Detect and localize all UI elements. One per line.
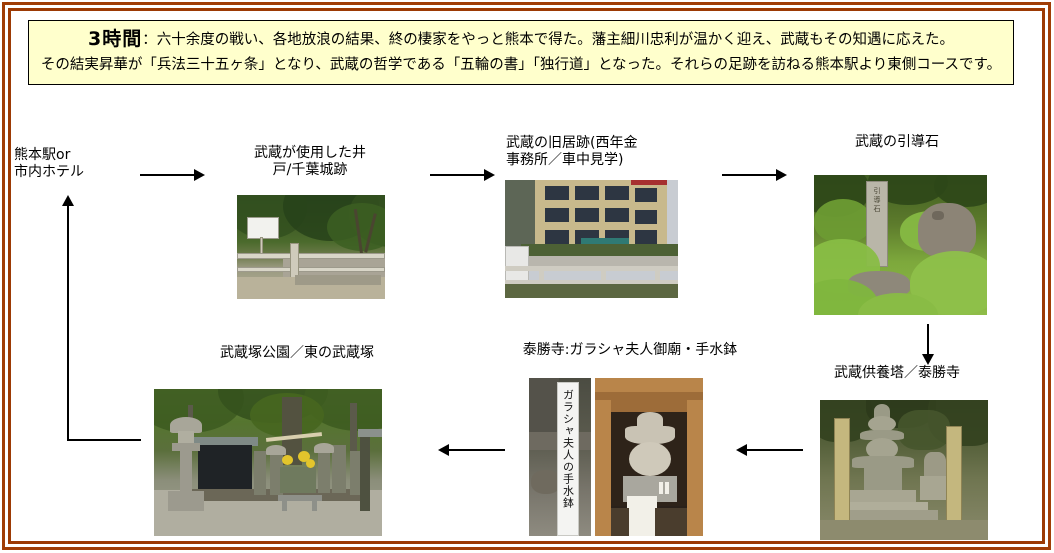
description-line-1: 3時間：六十余度の戦い、各地放浪の結果、終の棲家をやっと熊本で得た。藩主細川忠利…: [37, 27, 1005, 53]
content-area: 3時間：六十余度の戦い、各地放浪の結果、終の棲家をやっと熊本で得た。藩主細川忠利…: [12, 12, 1041, 540]
photo-gracia-mausoleum: [595, 378, 703, 536]
photo-musashizuka-park: [154, 389, 382, 536]
photo-gracia-chozubachi-post: ガラシャ夫人の手水鉢: [529, 378, 591, 536]
course-description-box: 3時間：六十余度の戦い、各地放浪の結果、終の棲家をやっと熊本で得た。藩主細川忠利…: [28, 20, 1014, 85]
node-label-kuyoto: 武蔵供養塔／泰勝寺: [802, 365, 992, 382]
node-label-gracia: 泰勝寺:ガラシャ夫人御廟・手水鉢: [490, 342, 770, 359]
node-label-musashizuka: 武蔵塚公園／東の武蔵塚: [162, 345, 432, 362]
description-text-1: 六十余度の戦い、各地放浪の結果、終の棲家をやっと熊本で得た。藩主細川忠利が温かく…: [157, 32, 954, 48]
node-label-residence: 武蔵の旧居跡(西年金 事務所／車中見学): [506, 135, 696, 169]
gracia-post-text: ガラシャ夫人の手水鉢: [562, 389, 575, 509]
photo-indoishi: 引導石: [814, 175, 987, 315]
course-map-page: 3時間：六十余度の戦い、各地放浪の結果、終の棲家をやっと熊本で得た。藩主細川忠利…: [0, 0, 1054, 553]
node-label-well: 武蔵が使用した井 戸/千葉城跡: [234, 145, 386, 179]
photo-former-residence: [505, 180, 678, 298]
photo-kuyoto-taishoji: [820, 400, 988, 540]
photo-well-chibajo: [237, 195, 385, 299]
description-line-2: その結実昇華が「兵法三十五ヶ条」となり、武蔵の哲学である「五輪の書」「独行道」と…: [37, 53, 1005, 78]
duration-text: 3時間: [88, 28, 142, 50]
node-label-indoishi: 武蔵の引導石: [802, 134, 992, 151]
node-label-start: 熊本駅or 市内ホテル: [14, 147, 134, 181]
duration-separator: ：: [142, 32, 157, 48]
